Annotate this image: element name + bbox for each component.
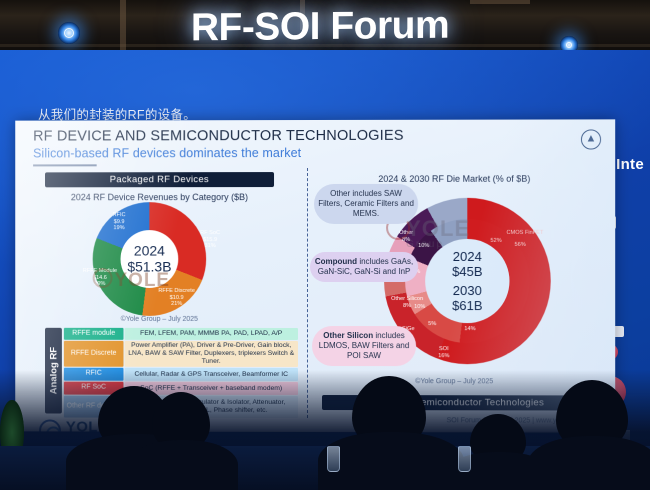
segment-label-rf-soc: RF SoC $15.9 31% xyxy=(200,230,220,250)
callout-text: Other includes SAW Filters, Ceramic Filt… xyxy=(318,189,414,218)
ring-light-icon xyxy=(58,22,80,44)
left-chart-credit: ©Yole Group – July 2025 xyxy=(45,316,274,323)
section-band-packaged: Packaged RF Devices xyxy=(45,172,274,187)
segment-value: $10.9 xyxy=(170,295,184,301)
center-year: 2024 xyxy=(120,244,180,259)
segment-percent-soi-2024: 14% xyxy=(464,326,475,333)
center-year-2030: 2030 xyxy=(425,283,509,298)
segment-name: RFFE Discrete xyxy=(158,288,195,294)
forum-title: RF-SOI Forum xyxy=(140,2,500,52)
audience-foreground xyxy=(0,370,650,490)
segment-name: RF SoC xyxy=(200,230,220,236)
segment-name: RFIC xyxy=(113,212,126,218)
conference-room-photo: RF-SOI Forum 从我们的封装的RF的设备。 2024年， 我们看到 p… xyxy=(0,0,650,490)
segment-value: $9.9 xyxy=(114,219,125,225)
table-row: RFFE module FEM, LFEM, PAM, MMMB PA, PAD… xyxy=(64,328,298,340)
segment-percent-other-silicon-2024: 10% xyxy=(414,304,425,311)
callout-bold: Compound xyxy=(315,257,357,266)
segment-percent-cmos-2030: 56% xyxy=(515,242,526,249)
segment-label-rfic: RFIC $9.9 19% xyxy=(113,212,126,232)
collapse-chevron-up-icon[interactable]: ▲ xyxy=(581,129,601,149)
donut-center-label: 2024 $45B 2030 $61B xyxy=(425,249,509,313)
water-glass xyxy=(327,446,340,472)
segment-percent-other-2024: 10% xyxy=(418,243,429,250)
callout-other-silicon: Other Silicon includes LDMOS, BAW Filter… xyxy=(312,326,416,366)
callout-bold: Other Silicon xyxy=(323,331,373,340)
potted-plant xyxy=(0,400,24,446)
ceiling-beam xyxy=(120,0,126,56)
segment-percent-cmos-2024: 52% xyxy=(490,238,501,245)
segment-percent-sige-2024: 5% xyxy=(428,321,436,328)
slide-title: RF DEVICE AND SEMICONDUCTOR TECHNOLOGIES xyxy=(33,128,404,145)
water-glass xyxy=(458,446,471,472)
segment-percent-2030: 16% xyxy=(438,353,449,359)
watermark-swirl-icon xyxy=(93,268,113,288)
callout-compound: Compound includes GaAs, GaN-SiC, GaN-Si … xyxy=(310,252,418,282)
row-category: RFFE module xyxy=(64,328,124,340)
donut-center-label: 2024 $51.3B xyxy=(120,244,180,275)
segment-label-rffe-discrete: RFFE Discrete $10.9 21% xyxy=(158,288,195,308)
callout-other: Other includes SAW Filters, Ceramic Filt… xyxy=(314,184,418,224)
segment-value: $15.9 xyxy=(203,237,217,243)
center-value-2024: $45B xyxy=(425,264,509,279)
title-underline xyxy=(33,164,97,166)
center-value: $51.3B xyxy=(120,259,180,275)
segment-name: Other Silicon xyxy=(391,296,423,302)
segment-label-cmos-finfet: CMOS FinFET xyxy=(506,230,543,237)
segment-name: SOI xyxy=(439,346,449,352)
left-chart-title: 2024 RF Device Revenues by Category ($B) xyxy=(45,192,274,202)
slide-subtitle: Silicon-based RF devices dominates the m… xyxy=(33,146,301,160)
row-description: FEM, LFEM, PAM, MMMB PA, PAD, LPAD, A/P xyxy=(125,328,299,340)
segment-percent: 19% xyxy=(113,225,124,231)
row-description: Power Amplifier (PA), Driver & Pre-Drive… xyxy=(125,341,299,367)
row-category: RFFE Discrete xyxy=(64,341,124,367)
center-value-2030: $61B xyxy=(425,298,509,313)
segment-percent: 31% xyxy=(205,243,216,249)
segment-percent-2030: 8% xyxy=(403,303,411,309)
table-row: RFFE Discrete Power Amplifier (PA), Driv… xyxy=(64,341,298,367)
segment-name: CMOS FinFET xyxy=(506,230,543,236)
segment-label-soi: SOI 16% xyxy=(438,346,449,359)
center-year-2024: 2024 xyxy=(425,249,509,264)
segment-percent: 21% xyxy=(171,301,182,307)
wall-title: Inte xyxy=(616,156,644,173)
audience-shoulders xyxy=(128,440,238,490)
right-chart-title: 2024 & 2030 RF Die Market (% of $B) xyxy=(314,174,595,184)
audience-shoulders xyxy=(528,436,650,490)
